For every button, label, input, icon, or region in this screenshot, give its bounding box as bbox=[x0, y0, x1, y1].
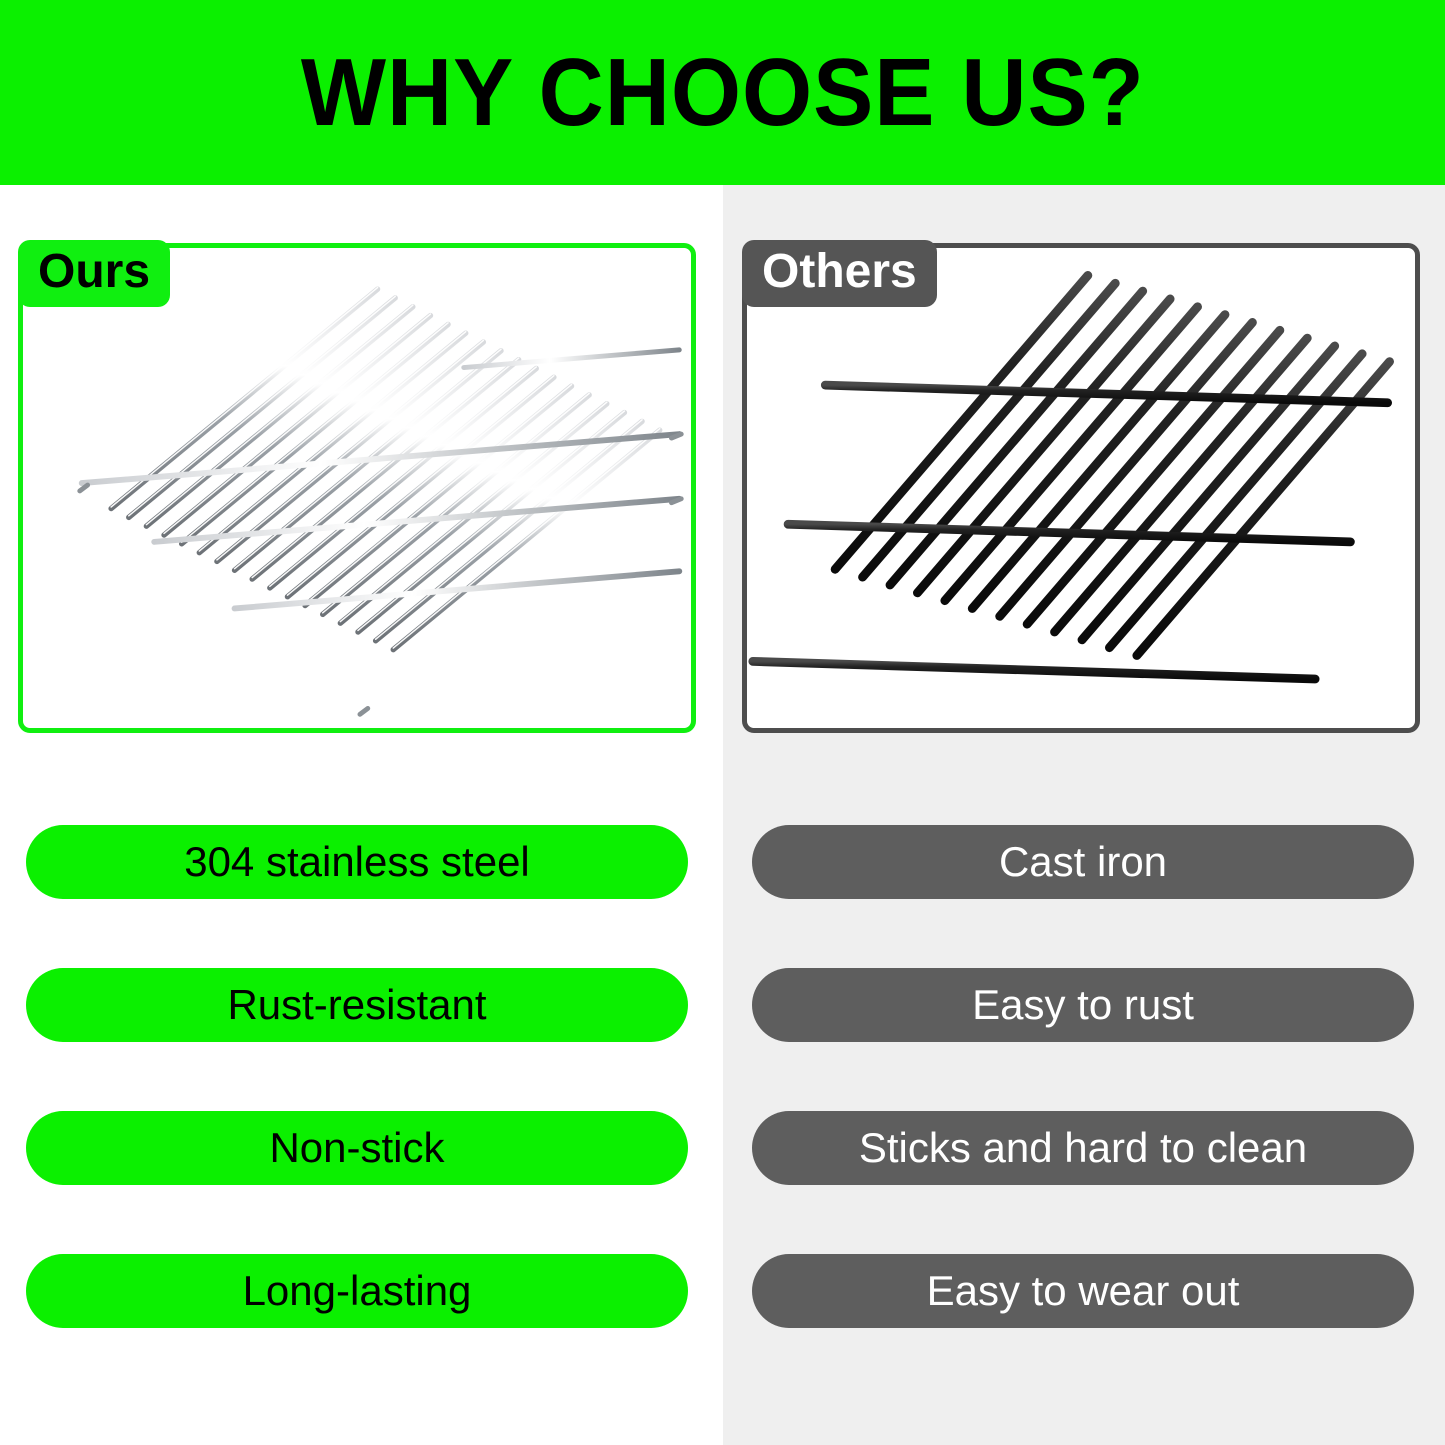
ours-product-image bbox=[23, 248, 691, 728]
others-feature-pill-1: Cast iron bbox=[752, 825, 1414, 899]
ours-badge: Ours bbox=[18, 240, 170, 307]
ours-feature-pill-2: Rust-resistant bbox=[26, 968, 688, 1042]
ours-feature-pill-1: 304 stainless steel bbox=[26, 825, 688, 899]
others-product-image bbox=[747, 248, 1415, 728]
others-feature-pill-4: Easy to wear out bbox=[752, 1254, 1414, 1328]
others-feature-pill-3: Sticks and hard to clean bbox=[752, 1111, 1414, 1185]
ours-product-card: Ours bbox=[18, 243, 696, 733]
others-badge: Others bbox=[742, 240, 937, 307]
others-feature-pill-2: Easy to rust bbox=[752, 968, 1414, 1042]
others-product-card: Others bbox=[742, 243, 1420, 733]
header-banner: WHY CHOOSE US? bbox=[0, 0, 1445, 185]
ours-feature-pill-4: Long-lasting bbox=[26, 1254, 688, 1328]
page-title: WHY CHOOSE US? bbox=[301, 45, 1145, 141]
ours-feature-pill-3: Non-stick bbox=[26, 1111, 688, 1185]
